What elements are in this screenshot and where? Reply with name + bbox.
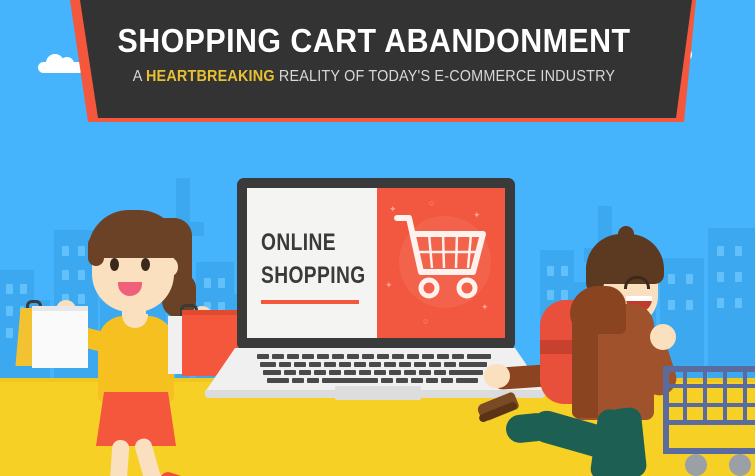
- cart-grid-line: [743, 366, 747, 422]
- hand-back: [484, 364, 510, 388]
- screen-headline-line2: SHOPPING: [261, 259, 366, 292]
- shopping-cart: [663, 358, 755, 476]
- screen-headline-line1: ONLINE: [261, 226, 366, 259]
- subtitle-highlight: HEARTBREAKING: [146, 68, 275, 85]
- hair-side: [88, 236, 104, 266]
- screen-underline: [261, 300, 359, 304]
- page-subtitle: A HEARTBREAKING REALITY OF TODAY'S E-COM…: [95, 68, 653, 86]
- shopping-cart-icon: [391, 208, 495, 312]
- teeth: [626, 296, 652, 301]
- ear: [164, 258, 178, 276]
- hair-tuft: [618, 226, 634, 242]
- jacket-hood: [570, 286, 626, 334]
- header-banner: SHOPPING CART ABANDONMENT A HEARTBREAKIN…: [64, 0, 696, 122]
- shopping-bag-white: [32, 306, 88, 368]
- subtitle-suffix: REALITY OF TODAY'S E-COMMERCE INDUSTRY: [275, 68, 615, 85]
- cart-grid-line: [723, 366, 727, 422]
- eye-right: [141, 258, 150, 271]
- cart-left-rail: [663, 366, 669, 454]
- bag-top-edge: [32, 306, 88, 311]
- laptop-trackpad: [335, 386, 421, 400]
- shirt: [98, 316, 174, 402]
- cart-wheel: [729, 454, 751, 476]
- screen-left-panel: ONLINE SHOPPING: [247, 188, 377, 338]
- page-title: SHOPPING CART ABANDONMENT: [89, 22, 659, 60]
- cart-grid-line: [683, 366, 687, 422]
- infographic-canvas: SHOPPING CART ABANDONMENT A HEARTBREAKIN…: [0, 0, 755, 476]
- shoe-right: [159, 470, 190, 476]
- cart-grid-line: [703, 366, 707, 422]
- eye-left: [110, 258, 119, 271]
- cart-mid-rail: [663, 420, 755, 425]
- cart-grid-line: [663, 384, 755, 388]
- sparkle-icon: ○: [429, 198, 434, 208]
- cart-top-rail: [663, 366, 755, 372]
- subtitle-prefix: A: [133, 68, 146, 85]
- laptop-screen: ONLINE SHOPPING ✦ ○ ✦ ✦ ○ ✦: [247, 188, 505, 338]
- cart-wheel: [685, 454, 707, 476]
- hand-front: [650, 324, 676, 350]
- laptop-keyboard: [257, 354, 493, 384]
- skirt: [96, 392, 176, 446]
- sparkle-icon: ○: [423, 316, 428, 326]
- cart-grid-line: [663, 403, 755, 407]
- screen-headline: ONLINE SHOPPING: [261, 226, 366, 292]
- screen-right-panel: ✦ ○ ✦ ✦ ○ ✦: [377, 188, 505, 338]
